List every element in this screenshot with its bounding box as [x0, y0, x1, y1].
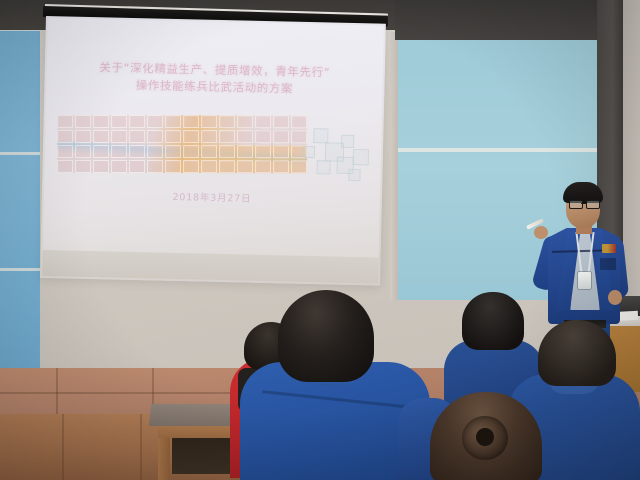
mosaic-row: [57, 115, 307, 128]
presenter-left-hand: [534, 226, 548, 239]
decor-square: [313, 128, 328, 143]
right-wall-panel-divider: [398, 148, 600, 152]
mosaic-row: [57, 145, 307, 158]
hair-bun-center: [476, 428, 494, 446]
id-badge: [578, 272, 591, 289]
mosaic-row: [57, 130, 307, 143]
decor-square: [353, 149, 369, 165]
presenter-chest-pocket: [600, 258, 616, 270]
projection-screen: 关于“深化精益生产、提质增效，青年先行” 操作技能练兵比武活动的方案: [40, 16, 386, 286]
attendee-blue-center-head: [278, 290, 374, 382]
presenter-right-hand: [608, 290, 622, 305]
slide-title-line-1: 关于“深化精益生产、提质增效，青年先行”: [99, 60, 330, 79]
attendee-blue-upper-right-head: [462, 292, 524, 350]
slide-date: 2018年3月27日: [52, 186, 372, 207]
mosaic-row: [57, 160, 307, 173]
decor-square: [341, 135, 354, 148]
decor-square: [348, 169, 360, 181]
left-wall-blue-panel: [0, 0, 40, 372]
wall-panel-divider: [0, 268, 40, 271]
glasses-lens-left: [569, 200, 583, 209]
decor-square: [316, 160, 330, 174]
presenter-uniform-logo: [602, 244, 616, 253]
slide-title: 关于“深化精益生产、提质增效，青年先行” 操作技能练兵比武活动的方案: [54, 58, 375, 99]
attendee-blue-right-head: [538, 320, 616, 386]
glasses-lens-right: [586, 200, 600, 209]
decor-square: [303, 146, 315, 158]
projected-slide: 关于“深化精益生产、提质增效，青年先行” 操作技能练兵比武活动的方案: [43, 18, 384, 258]
glasses-bridge: [581, 203, 586, 204]
photograph-scene: 关于“深化精益生产、提质增效，青年先行” 操作技能练兵比武活动的方案: [0, 0, 640, 480]
wall-panel-divider: [0, 152, 40, 155]
slide-mosaic-graphic: [57, 115, 307, 173]
